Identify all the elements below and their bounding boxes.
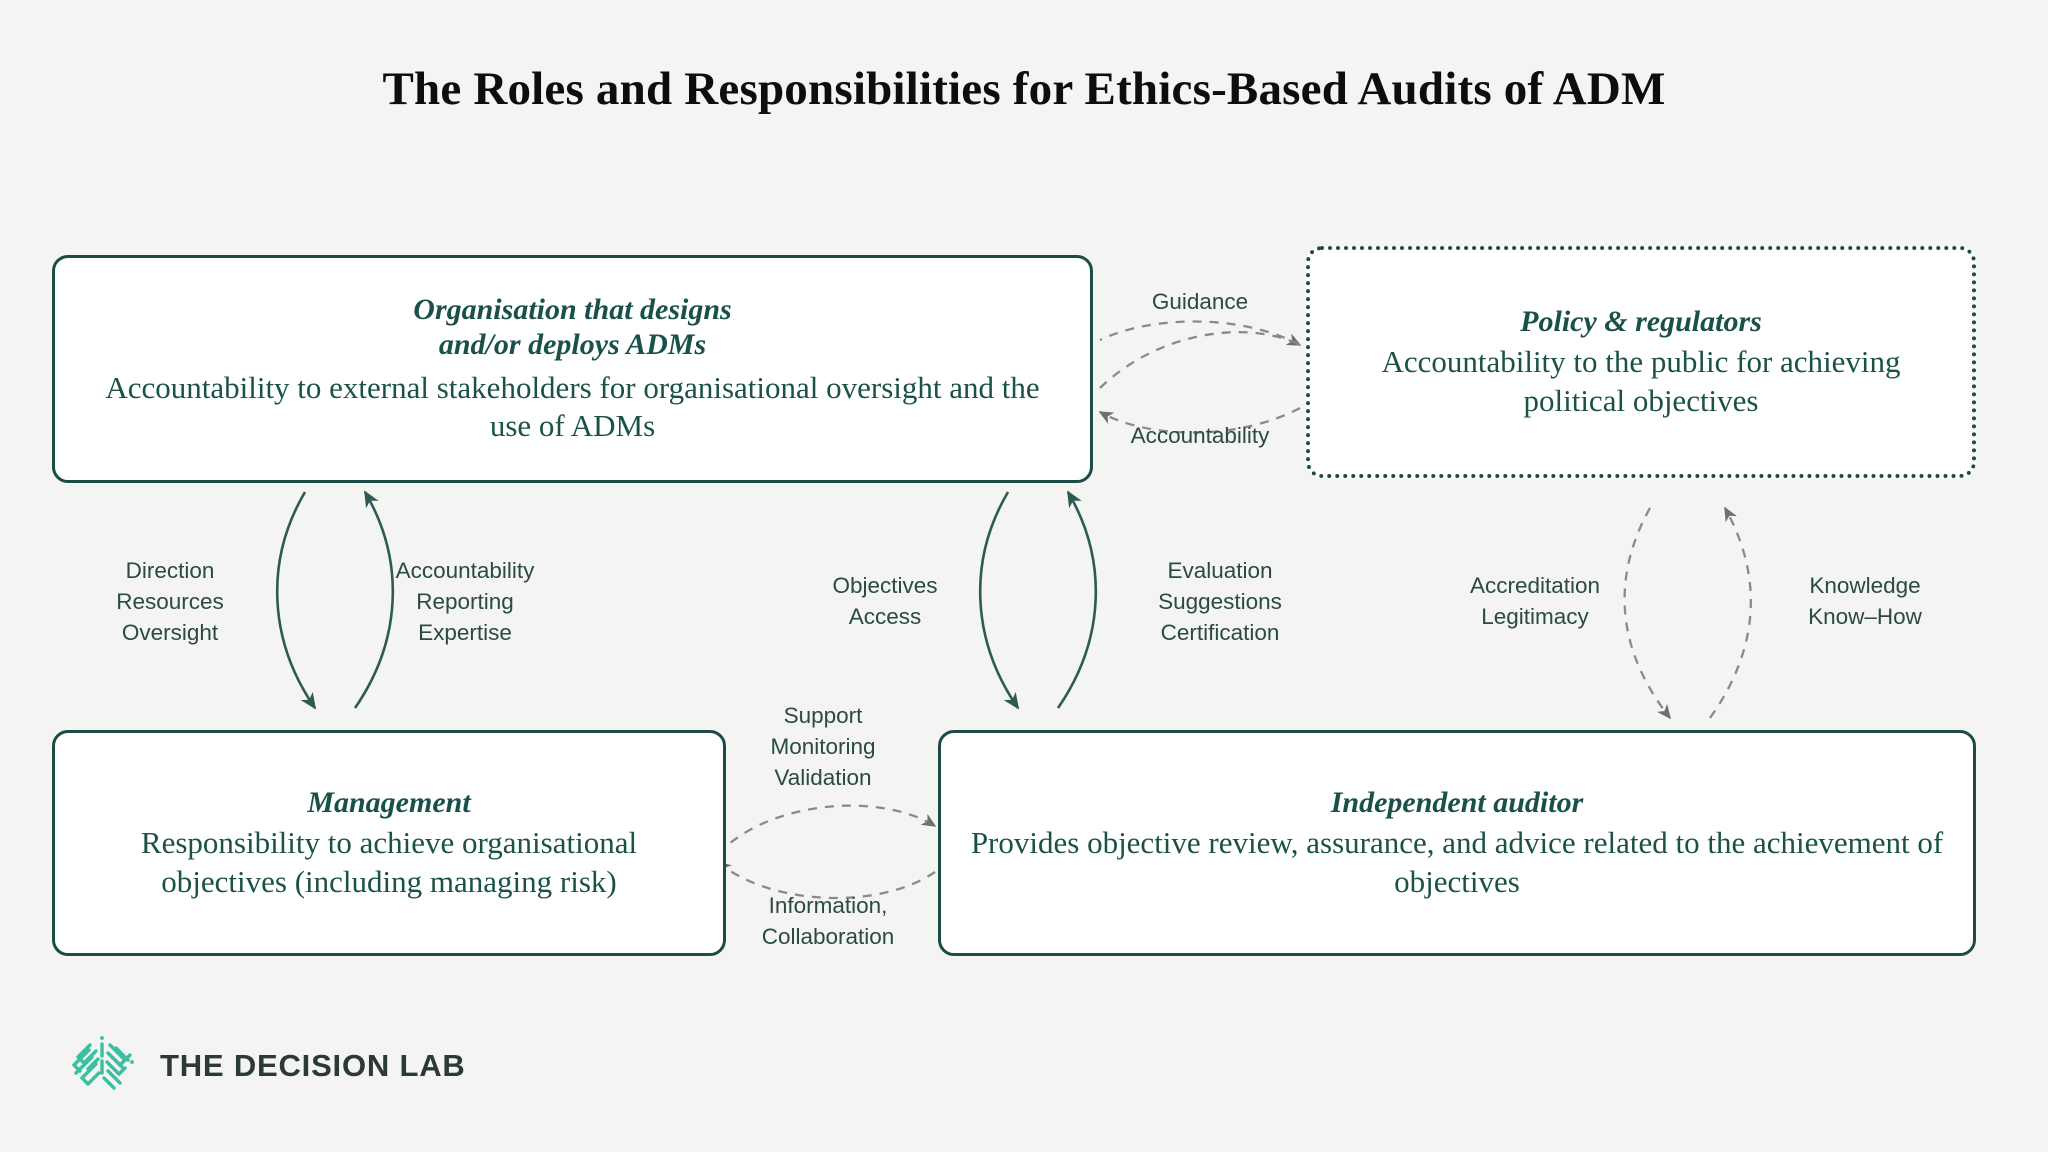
- node-management-title: Management: [307, 785, 470, 820]
- brain-pattern-icon: [68, 1031, 138, 1101]
- node-organisation[interactable]: Organisation that designs and/or deploys…: [52, 255, 1093, 483]
- node-organisation-body: Accountability to external stakeholders …: [81, 369, 1064, 447]
- node-policy-title: Policy & regulators: [1520, 304, 1762, 339]
- logo-wordmark: THE DECISION LAB: [160, 1048, 466, 1084]
- edge-label-objectives-access: Objectives Access: [790, 570, 980, 632]
- node-management[interactable]: Management Responsibility to achieve org…: [52, 730, 726, 956]
- connector-layer: [0, 0, 2048, 1152]
- page-title: The Roles and Responsibilities for Ethic…: [0, 62, 2048, 116]
- edge-label-information-collaboration: Information, Collaboration: [728, 890, 928, 952]
- edge-label-accreditation-legitimacy: Accreditation Legitimacy: [1415, 570, 1655, 632]
- node-policy-regulators[interactable]: Policy & regulators Accountability to th…: [1306, 246, 1976, 478]
- node-independent-auditor[interactable]: Independent auditor Provides objective r…: [938, 730, 1976, 956]
- edge-label-knowledge-knowhow: Knowledge Know–How: [1745, 570, 1985, 632]
- edge-label-direction-resources-oversight: Direction Resources Oversight: [70, 555, 270, 648]
- edge-label-accountability-reporting-expertise: Accountability Reporting Expertise: [350, 555, 580, 648]
- node-policy-body: Accountability to the public for achievi…: [1336, 343, 1946, 421]
- brand-logo: THE DECISION LAB: [68, 1031, 466, 1101]
- edge-label-support-monitoring-validation: Support Monitoring Validation: [728, 700, 918, 793]
- node-auditor-title: Independent auditor: [1331, 785, 1584, 820]
- edge-label-evaluation-suggestions-certification: Evaluation Suggestions Certification: [1105, 555, 1335, 648]
- edge-organisation-policy: [1100, 321, 1300, 432]
- node-auditor-body: Provides objective review, assurance, an…: [967, 824, 1947, 902]
- edge-label-accountability: Accountability: [1090, 420, 1310, 451]
- node-organisation-title: Organisation that designs and/or deploys…: [413, 292, 731, 363]
- diagram-canvas: The Roles and Responsibilities for Ethic…: [0, 0, 2048, 1152]
- edge-management-auditor: [718, 806, 935, 898]
- node-management-body: Responsibility to achieve organisational…: [81, 824, 697, 902]
- edge-organisation-auditor: [980, 492, 1096, 708]
- edge-label-guidance: Guidance: [1110, 286, 1290, 317]
